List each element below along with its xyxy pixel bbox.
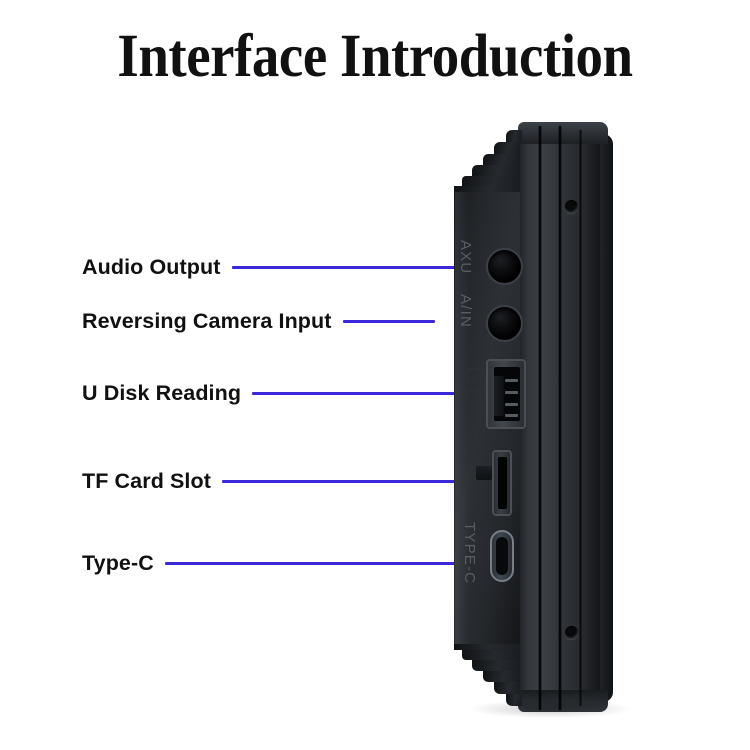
- screw-hole-bottom: [565, 626, 578, 639]
- callout-label-reversing-camera-input: Reversing Camera Input: [82, 309, 332, 334]
- usb-pin-1: [505, 379, 518, 382]
- silkscreen-label-aux: AXU: [457, 240, 474, 274]
- tf-slot-opening: [498, 457, 507, 509]
- port-av-input-jack[interactable]: [486, 305, 523, 342]
- usb-pin-2: [505, 391, 518, 394]
- device-groove-3: [579, 130, 582, 706]
- callout-type-c: Type-C: [82, 548, 490, 578]
- usb-pin-4: [505, 414, 518, 417]
- usb-tongue: [494, 376, 504, 416]
- chamfer-step-top-5: [494, 142, 520, 154]
- port-audio-output-jack[interactable]: [486, 248, 523, 285]
- port-tf-card-slot[interactable]: [492, 450, 512, 516]
- device-groove-2: [558, 126, 562, 710]
- callout-u-disk-reading: U Disk Reading: [82, 378, 460, 408]
- chamfer-step-top-4: [483, 154, 520, 165]
- device-side-profile: AXU A/IN TYPE-C: [452, 118, 632, 718]
- device-contact-shadow: [470, 700, 630, 718]
- leader-line-type-c: [165, 562, 490, 565]
- leader-line-reversing-camera-input: [343, 320, 435, 323]
- callout-label-type-c: Type-C: [82, 551, 154, 576]
- page-title: Interface Introduction: [38, 22, 713, 92]
- leader-line-tf-card-slot: [222, 480, 475, 483]
- chamfer-step-bottom-2: [462, 650, 520, 660]
- chamfer-step-top-3: [472, 165, 520, 176]
- usb-pin-3: [505, 403, 518, 406]
- device-groove-1: [538, 126, 542, 710]
- callout-tf-card-slot: TF Card Slot: [82, 466, 475, 496]
- leader-line-audio-output: [232, 266, 457, 269]
- silkscreen-label-type-c: TYPE-C: [461, 522, 478, 584]
- type-c-slot-opening: [496, 537, 508, 575]
- chamfer-step-bottom-5: [494, 682, 520, 694]
- silkscreen-tick-2: [466, 390, 484, 404]
- port-type-c[interactable]: [490, 530, 514, 582]
- callout-label-tf-card-slot: TF Card Slot: [82, 469, 211, 494]
- tf-slot-nub: [476, 466, 492, 480]
- device-top-cap: [518, 122, 608, 144]
- chamfer-step-bottom-3: [472, 660, 520, 671]
- callout-reversing-camera-input: Reversing Camera Input: [82, 306, 435, 336]
- chamfer-step-top-2: [462, 176, 520, 186]
- screw-hole-top: [565, 200, 578, 213]
- port-usb-a[interactable]: [486, 359, 526, 429]
- usb-cavity: [494, 367, 520, 421]
- callout-label-u-disk-reading: U Disk Reading: [82, 381, 241, 406]
- leader-line-u-disk-reading: [252, 392, 460, 395]
- callout-audio-output: Audio Output: [82, 252, 457, 282]
- chamfer-step-bottom-4: [483, 671, 520, 682]
- chamfer-step-top-6: [506, 130, 522, 142]
- silkscreen-label-av-in: A/IN: [457, 294, 474, 328]
- interface-introduction-diagram: Interface Introduction Audio Output Reve…: [0, 0, 750, 750]
- callout-label-audio-output: Audio Output: [82, 255, 221, 280]
- silkscreen-tick-1: [466, 368, 484, 382]
